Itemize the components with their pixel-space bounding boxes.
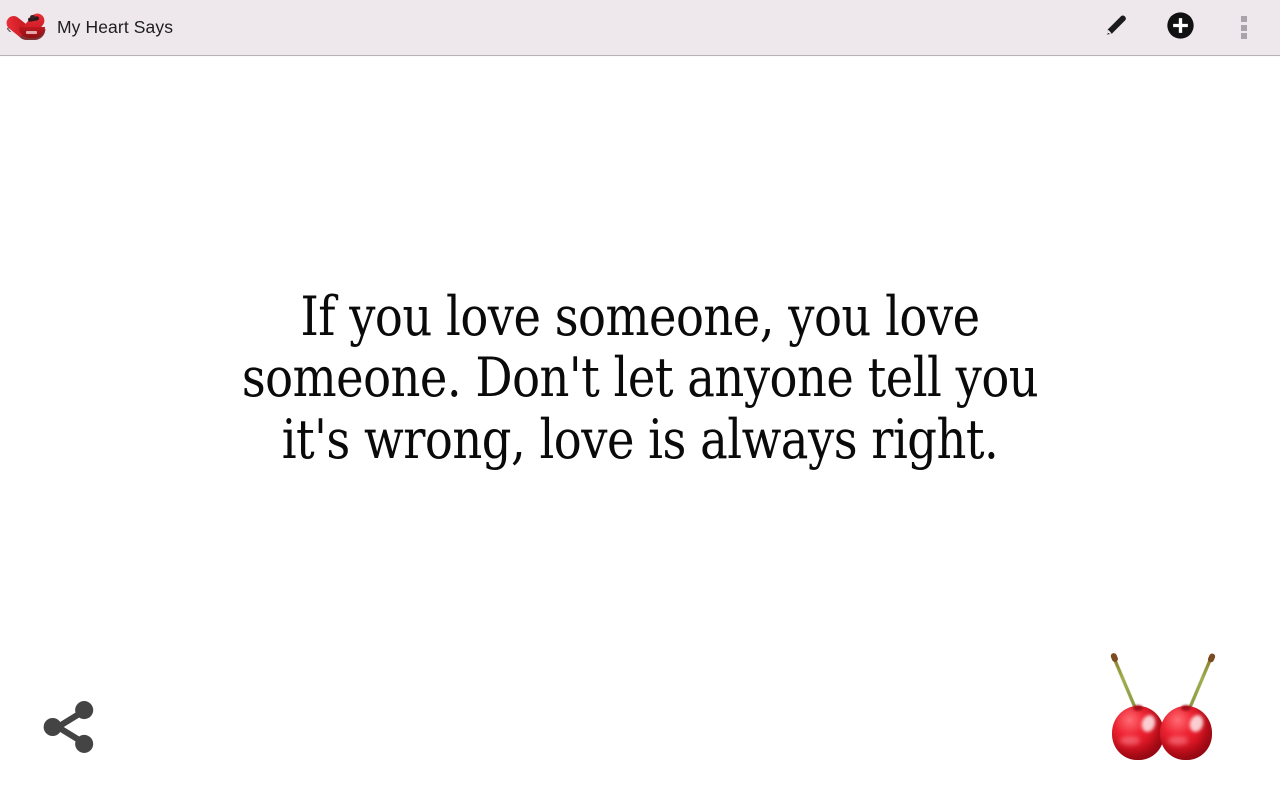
edit-button[interactable] — [1088, 0, 1144, 56]
quote-text: If you love someone, you love someone. D… — [219, 286, 1062, 469]
app-root: ‹ My Heart Says — [0, 0, 1280, 800]
cherries-image — [1110, 650, 1218, 762]
app-bar: ‹ My Heart Says — [0, 0, 1280, 56]
page-title: My Heart Says — [57, 17, 173, 38]
overflow-button[interactable] — [1216, 0, 1272, 56]
add-button[interactable] — [1152, 0, 1208, 56]
pencil-icon — [1101, 10, 1131, 45]
share-icon — [34, 749, 104, 766]
heart-box-icon — [16, 12, 48, 44]
quote-area: If you love someone, you love someone. D… — [0, 56, 1280, 800]
plus-circle-icon — [1165, 10, 1196, 46]
more-vert-icon — [1241, 14, 1247, 42]
share-button[interactable] — [34, 692, 104, 762]
